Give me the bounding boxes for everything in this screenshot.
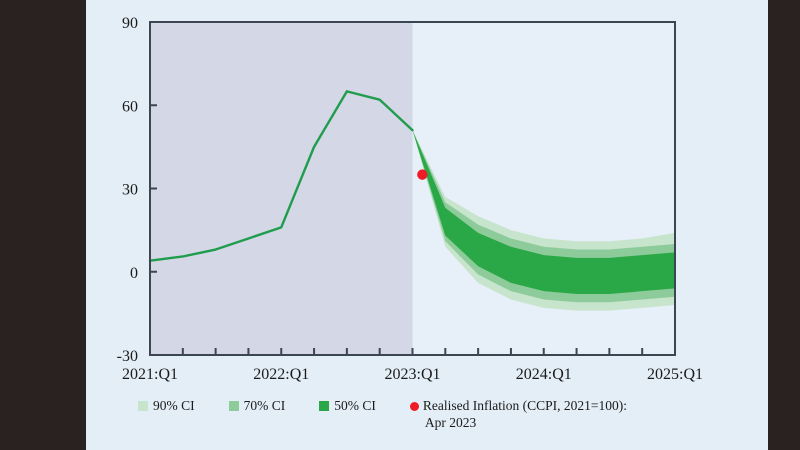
square-swatch-icon bbox=[319, 401, 329, 411]
square-swatch-icon bbox=[138, 401, 148, 411]
y-tick-label: 90 bbox=[122, 15, 138, 32]
legend-row: 90% CI 70% CI 50% CI Realised Inflation … bbox=[86, 398, 768, 432]
letterbox-right bbox=[768, 0, 800, 450]
legend-item-50ci: 50% CI bbox=[319, 398, 376, 415]
legend-label-90ci: 90% CI bbox=[153, 398, 195, 415]
fan-chart: -300306090 2021:Q12022:Q12023:Q12024:Q12… bbox=[86, 0, 768, 450]
x-tick-label: 2025:Q1 bbox=[647, 366, 703, 383]
square-swatch-icon bbox=[229, 401, 239, 411]
y-tick-label: 0 bbox=[130, 265, 138, 282]
x-tick-label: 2022:Q1 bbox=[253, 366, 309, 383]
legend-label-realised-line2: Apr 2023 bbox=[423, 415, 627, 432]
legend-label-realised-line1: Realised Inflation (CCPI, 2021=100): bbox=[423, 398, 627, 413]
x-axis-labels: 2021:Q12022:Q12023:Q12024:Q12025:Q1 bbox=[122, 366, 703, 383]
letterbox-left bbox=[0, 0, 86, 450]
legend-label-realised-inflation: Realised Inflation (CCPI, 2021=100):Apr … bbox=[423, 398, 627, 432]
chart-legend: 90% CI 70% CI 50% CI Realised Inflation … bbox=[86, 398, 768, 450]
legend-label-70ci: 70% CI bbox=[244, 398, 286, 415]
chart-panel: -300306090 2021:Q12022:Q12023:Q12024:Q12… bbox=[86, 0, 768, 450]
x-tick-label: 2024:Q1 bbox=[516, 366, 572, 383]
realised-inflation-dot bbox=[417, 169, 427, 179]
y-axis-labels: -300306090 bbox=[117, 15, 138, 365]
y-tick-label: -30 bbox=[117, 348, 138, 365]
y-tick-label: 30 bbox=[122, 182, 138, 199]
x-tick-label: 2021:Q1 bbox=[122, 366, 178, 383]
realised-inflation-marker bbox=[417, 169, 427, 179]
legend-label-50ci: 50% CI bbox=[334, 398, 376, 415]
y-tick-label: 60 bbox=[122, 98, 138, 115]
legend-item-90ci: 90% CI bbox=[138, 398, 195, 415]
history-region bbox=[150, 22, 413, 355]
x-tick-label: 2023:Q1 bbox=[385, 366, 441, 383]
screenshot-root: -300306090 2021:Q12022:Q12023:Q12024:Q12… bbox=[0, 0, 800, 450]
fan-chart-svg: -300306090 2021:Q12022:Q12023:Q12024:Q12… bbox=[86, 0, 768, 450]
legend-item-realised-inflation: Realised Inflation (CCPI, 2021=100):Apr … bbox=[410, 398, 627, 432]
red-dot-icon bbox=[410, 402, 419, 411]
legend-item-70ci: 70% CI bbox=[229, 398, 286, 415]
